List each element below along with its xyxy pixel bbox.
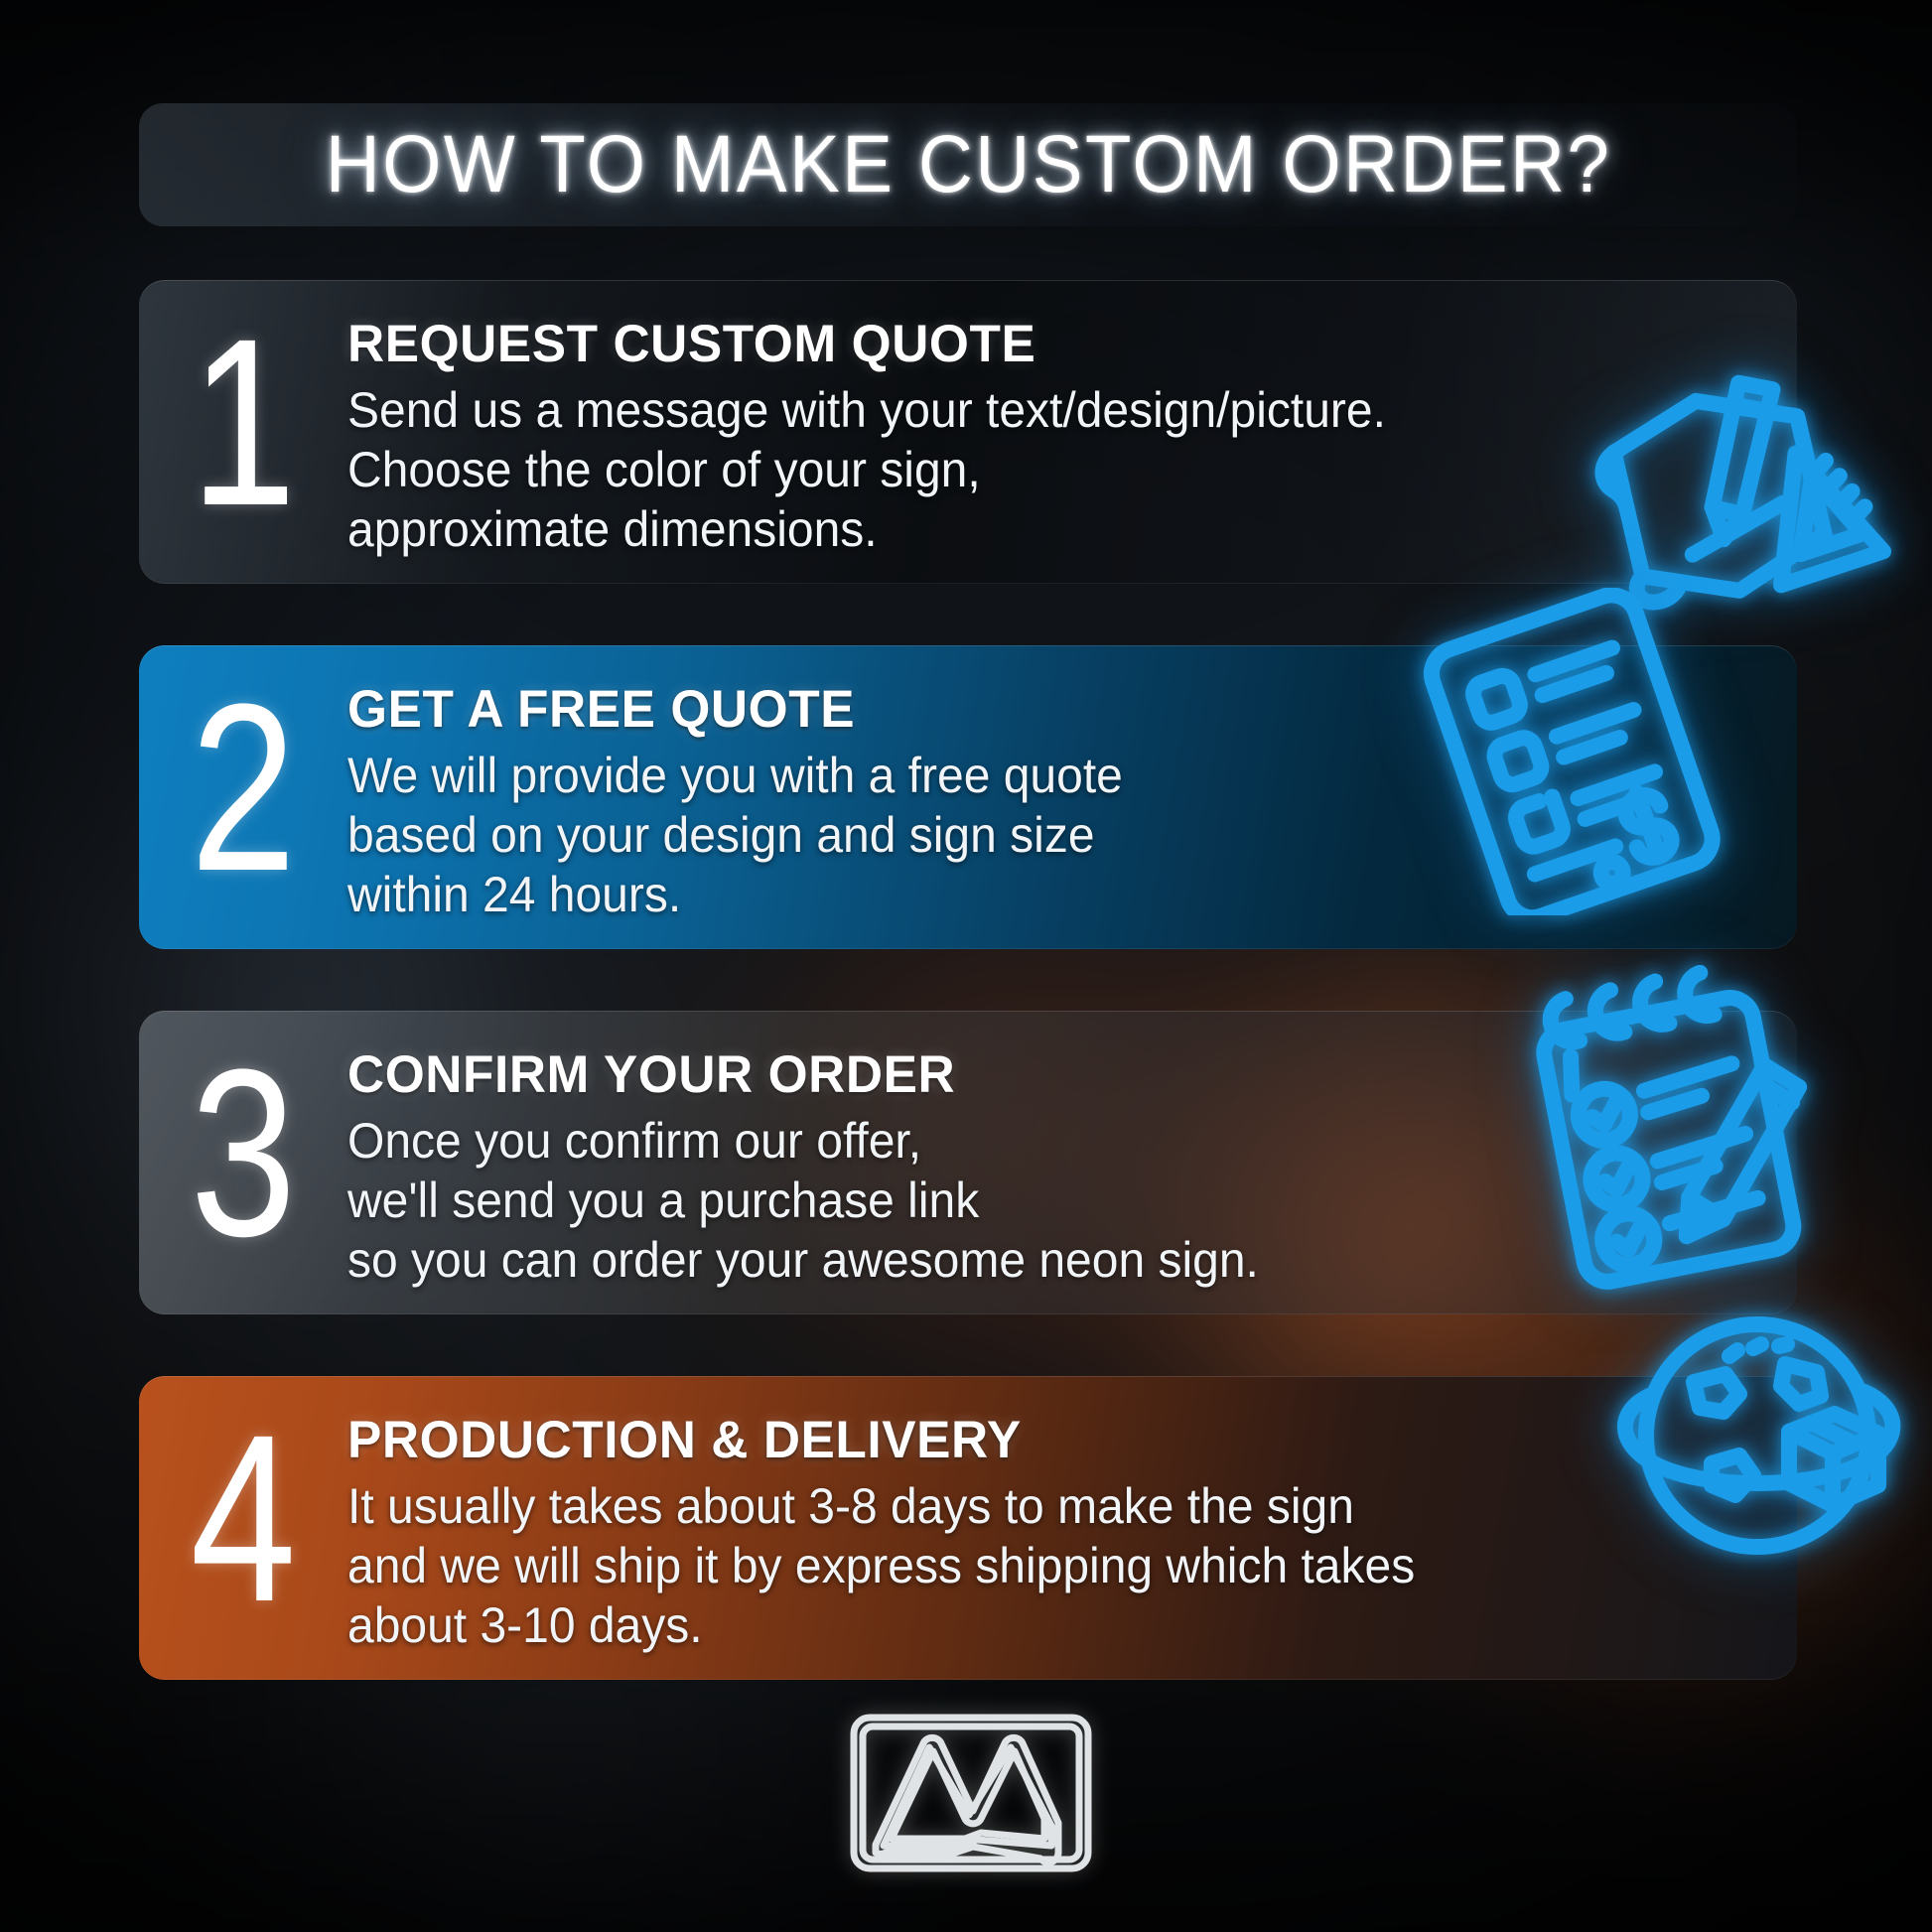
step-number-3: 3 [160, 1011, 327, 1295]
step-line: about 3-10 days. [347, 1595, 1701, 1655]
step-description-3: Once you confirm our offer, we'll send y… [347, 1111, 1701, 1290]
step-card-4: 4 PRODUCTION & DELIVERY It usually takes… [139, 1376, 1797, 1680]
step-line: We will provide you with a free quote [347, 746, 1701, 805]
step-title-3: CONFIRM YOUR ORDER [347, 1044, 1715, 1105]
step-line: and we will ship it by express shipping … [347, 1536, 1701, 1595]
step-number-2: 2 [160, 645, 327, 929]
neon-w-monogram-logo [846, 1708, 1096, 1878]
infographic-canvas: HOW TO MAKE CUSTOM ORDER? 1 REQUEST CUST… [0, 0, 1932, 1932]
step-title-4: PRODUCTION & DELIVERY [347, 1410, 1715, 1470]
step-title-2: GET A FREE QUOTE [347, 679, 1715, 740]
step-line: Choose the color of your sign, [347, 440, 1701, 499]
page-title-bar: HOW TO MAKE CUSTOM ORDER? [139, 103, 1797, 226]
step-card-1: 1 REQUEST CUSTOM QUOTE Send us a message… [139, 280, 1797, 584]
step-line: Send us a message with your text/design/… [347, 380, 1701, 440]
step-line: so you can order your awesome neon sign. [347, 1230, 1701, 1290]
step-description-2: We will provide you with a free quote ba… [347, 746, 1701, 924]
step-line: Once you confirm our offer, [347, 1111, 1701, 1171]
page-title: HOW TO MAKE CUSTOM ORDER? [325, 118, 1610, 211]
step-line: approximate dimensions. [347, 499, 1701, 559]
step-card-3: 3 CONFIRM YOUR ORDER Once you confirm ou… [139, 1011, 1797, 1314]
step-number-4: 4 [160, 1376, 327, 1660]
step-number-1: 1 [160, 280, 327, 564]
step-line: we'll send you a purchase link [347, 1171, 1701, 1230]
step-description-4: It usually takes about 3-8 days to make … [347, 1476, 1701, 1655]
step-title-1: REQUEST CUSTOM QUOTE [347, 314, 1715, 374]
step-line: based on your design and sign size [347, 805, 1701, 865]
step-line: within 24 hours. [347, 865, 1701, 924]
step-line: It usually takes about 3-8 days to make … [347, 1476, 1701, 1536]
step-description-1: Send us a message with your text/design/… [347, 380, 1701, 559]
step-card-2: 2 GET A FREE QUOTE We will provide you w… [139, 645, 1797, 949]
